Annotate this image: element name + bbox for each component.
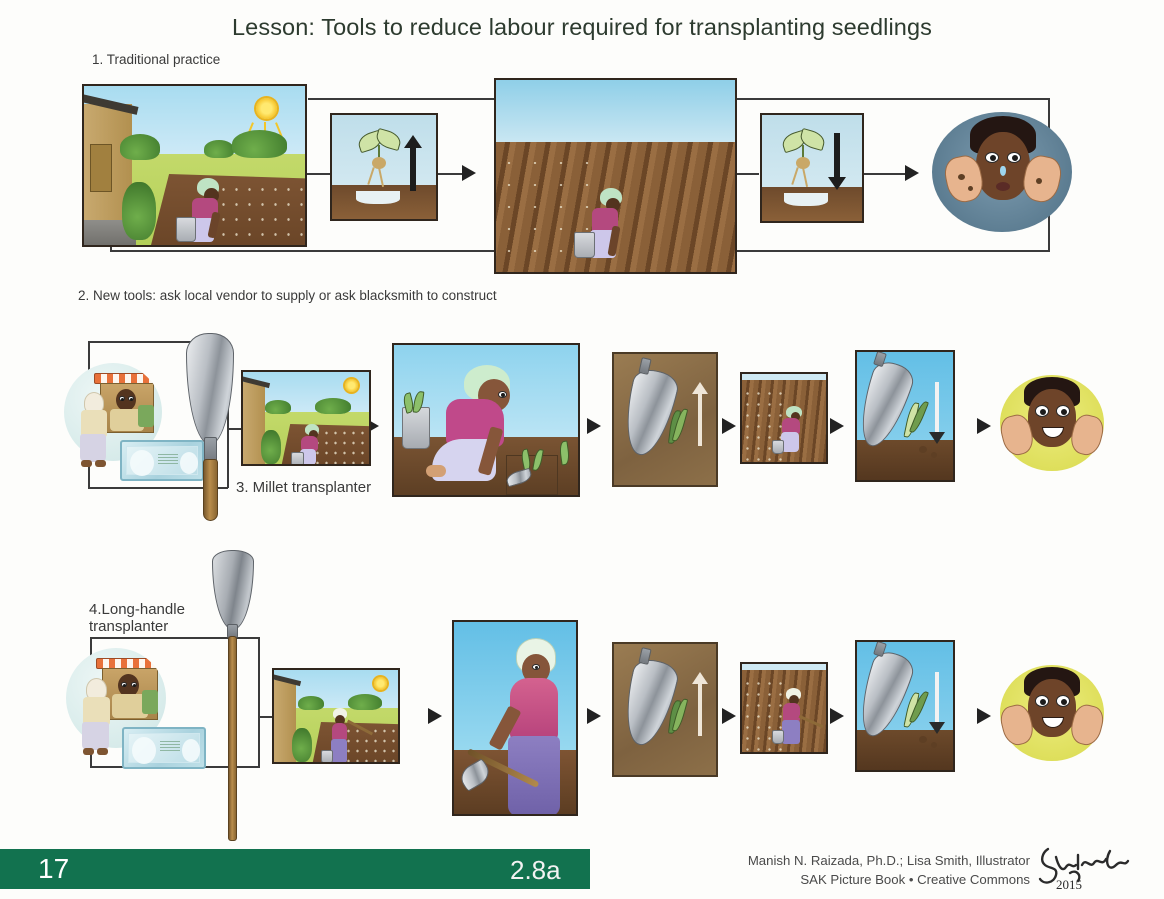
- bucket-shape: [321, 750, 333, 764]
- dirt-spot: [968, 186, 973, 191]
- banknote-text-block: [160, 741, 180, 753]
- panel-seedling-uprooted-by-hand: [330, 113, 438, 221]
- tool-millet-transplanter: [178, 333, 240, 523]
- bush-shape: [261, 430, 281, 464]
- flow-arrow-icon-r3-1: [428, 708, 442, 724]
- face-shape: [1028, 389, 1076, 447]
- flow-arrow-icon-r2-3: [722, 418, 736, 434]
- section-number: 2.8a: [510, 855, 561, 886]
- step-label-traditional-practice: 1. Traditional practice: [92, 52, 220, 67]
- panel-field-transplanting-with-tool: [740, 372, 828, 464]
- bush-shape: [292, 728, 312, 762]
- eye-left: [1035, 695, 1049, 707]
- panel-trowel-planting-seedling-closeup-row3: [855, 640, 955, 772]
- flow-arrow-icon-r3-4: [830, 708, 844, 724]
- flow-line-row1-mid-c: [737, 173, 759, 175]
- dirt-spot: [958, 174, 965, 180]
- banknote-portrait: [130, 450, 154, 476]
- bush-shape: [315, 398, 351, 414]
- seedling-figure: [782, 129, 828, 191]
- root-strand: [367, 167, 374, 185]
- dirt-clod: [931, 742, 937, 748]
- trowel-handle: [203, 459, 218, 521]
- skirt-shape: [782, 720, 800, 744]
- panel-field-hand-transplanting: [494, 78, 737, 274]
- banknote-row3: [122, 727, 206, 769]
- seedling-figure: [358, 129, 404, 191]
- flow-arrow-icon-r1-1: [462, 165, 476, 181]
- customer-skirt: [82, 722, 109, 750]
- flow-line-row1-mid-d: [862, 173, 907, 175]
- bush-shape: [298, 696, 324, 710]
- vendor-eye: [119, 396, 125, 401]
- eye: [498, 391, 507, 398]
- root-strand: [791, 167, 798, 185]
- hut-door: [90, 144, 112, 192]
- face-shape: [1028, 679, 1076, 737]
- step-label-new-tools: 2. New tools: ask local vendor to supply…: [78, 288, 497, 303]
- bucket-shape: [772, 440, 784, 454]
- spade-blade: [212, 550, 254, 630]
- arrow-down-icon: [929, 382, 945, 446]
- vendor-eye: [121, 682, 127, 687]
- footer-bar: [0, 849, 590, 889]
- flow-arrow-icon-r2-5: [977, 418, 991, 434]
- root-strand: [378, 167, 384, 187]
- skirt-shape: [331, 739, 347, 763]
- long-handle-shaft: [228, 636, 237, 841]
- dirt-spot: [1036, 178, 1042, 184]
- arrow-down-icon: [929, 672, 945, 736]
- bush-shape: [204, 140, 234, 158]
- page-number: 17: [38, 853, 69, 885]
- customer-foot: [83, 748, 94, 755]
- sun-icon: [345, 379, 358, 392]
- banknote-portrait: [132, 737, 156, 764]
- credit-line-authors: Manish N. Raizada, Ph.D.; Lisa Smith, Il…: [672, 851, 1030, 870]
- banknote-text-block: [158, 454, 178, 466]
- page-title: Lesson: Tools to reduce labour required …: [0, 14, 1164, 41]
- dirt-clod: [919, 736, 927, 743]
- panel-field-transplanting-standing: [740, 662, 828, 754]
- bucket-shape: [772, 730, 784, 744]
- eye-left: [985, 152, 999, 163]
- trowel-blade: [186, 333, 234, 445]
- flow-arrow-icon-r3-5: [977, 708, 991, 724]
- panel-happy-farmer-face-clean-hands-row3: [1000, 665, 1104, 761]
- step-label-millet-transplanter: 3. Millet transplanter: [236, 479, 371, 496]
- soil-hole: [356, 191, 400, 204]
- vendor-eye: [128, 396, 134, 401]
- panel-tired-farmer-face-dirty-hands: [932, 112, 1072, 232]
- eye-right: [1056, 695, 1070, 707]
- eye-right: [1056, 405, 1070, 417]
- panel-nursery-bed-sowing: [82, 84, 307, 247]
- eye: [532, 664, 540, 670]
- customer-foot: [81, 460, 92, 467]
- flow-arrow-icon-r1-2: [905, 165, 919, 181]
- panel-nursery-bed-with-long-tool: [272, 668, 400, 764]
- arrow-up-icon: [692, 672, 708, 736]
- flow-arrow-icon-r2-2: [587, 418, 601, 434]
- customer-foot: [95, 460, 106, 467]
- bush-shape: [122, 182, 156, 240]
- foot-shape: [426, 465, 446, 477]
- eye-left: [1035, 405, 1049, 417]
- panel-trowel-planting-seedling-closeup-row2: [855, 350, 955, 482]
- bush-shape: [232, 130, 287, 158]
- mouth-sad: [996, 182, 1010, 191]
- arrow-up-icon: [404, 135, 422, 191]
- sun-icon: [256, 98, 277, 119]
- bucket-shape: [176, 217, 196, 242]
- bush-shape: [348, 694, 382, 710]
- dirt-clod: [919, 446, 927, 453]
- credit-line-source: SAK Picture Book • Creative Commons: [672, 870, 1030, 889]
- customer-figure-row2: [76, 392, 112, 470]
- sun-icon: [374, 677, 387, 690]
- tool-long-handle-transplanter: [202, 550, 264, 845]
- soil-hole: [784, 193, 828, 206]
- customer-foot: [97, 748, 108, 755]
- bush-shape: [265, 400, 291, 414]
- panel-nursery-bed-with-tool: [241, 370, 371, 466]
- arrow-up-icon: [692, 382, 708, 446]
- vendor-goods: [142, 690, 158, 714]
- bucket-shape: [291, 452, 304, 466]
- tear-drop: [1000, 166, 1006, 176]
- flow-arrow-icon-r3-3: [722, 708, 736, 724]
- banknote-watermark: [182, 739, 200, 762]
- signature-illustrator: 2015: [1032, 843, 1142, 899]
- eye-right: [1007, 152, 1021, 163]
- panel-trowel-lifting-seedling-closeup-row2: [612, 352, 718, 487]
- panel-kneeling-farmer-lifting-seedlings: [392, 343, 580, 497]
- customer-figure-row3: [78, 678, 114, 758]
- panel-standing-farmer-using-long-tool: [452, 620, 578, 816]
- panel-trowel-lifting-seedling-closeup-row3: [612, 642, 718, 777]
- panel-seedling-planted-by-hand: [760, 113, 864, 223]
- bucket-shape: [574, 232, 595, 258]
- bush-shape: [120, 134, 160, 160]
- vendor-goods: [138, 405, 154, 427]
- signature-year: 2015: [1056, 877, 1082, 892]
- flow-line-row1-mid-b: [435, 173, 465, 175]
- vendor-eye: [131, 682, 137, 687]
- flow-arrow-icon-r2-4: [830, 418, 844, 434]
- panel-happy-farmer-face-clean-hands-row2: [1000, 375, 1104, 471]
- flow-arrow-icon-r3-2: [587, 708, 601, 724]
- root-strand: [802, 167, 808, 187]
- standing-farmer-figure: [500, 638, 572, 816]
- dirt-clod: [931, 452, 937, 458]
- flow-line-row1-mid-a: [305, 173, 333, 175]
- customer-skirt: [80, 434, 106, 462]
- arrow-down-icon: [828, 133, 846, 191]
- credits-block: Manish N. Raizada, Ph.D.; Lisa Smith, Il…: [672, 851, 1030, 889]
